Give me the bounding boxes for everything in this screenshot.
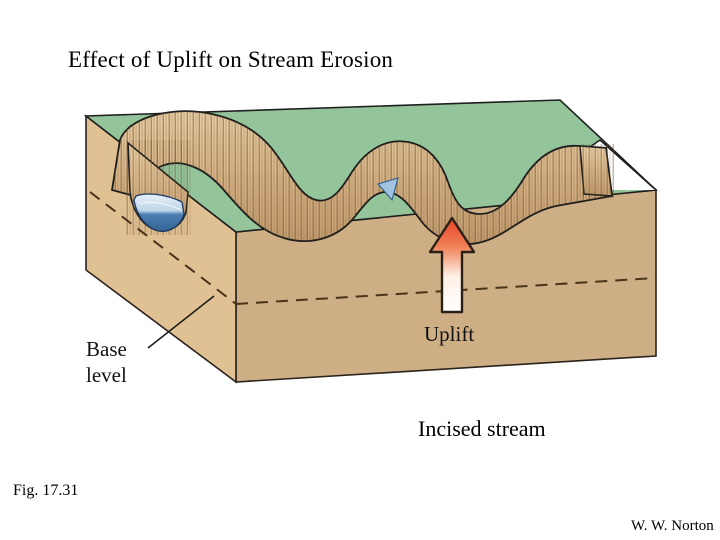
- figure-number: Fig. 17.31: [13, 481, 78, 501]
- base-level-label-line2: level: [86, 363, 127, 387]
- slide-canvas: Effect of Uplift on Stream Erosion: [0, 0, 720, 540]
- base-level-label-line1: Base: [86, 337, 127, 361]
- right-cut-striations: [578, 144, 614, 198]
- block-diagram-illustration: Uplift Base level: [0, 0, 720, 540]
- publisher-credit: W. W. Norton: [631, 517, 714, 535]
- canyon-cross-section-left: [126, 140, 192, 235]
- uplift-label: Uplift: [424, 322, 474, 346]
- incised-stream-caption: Incised stream: [418, 416, 546, 442]
